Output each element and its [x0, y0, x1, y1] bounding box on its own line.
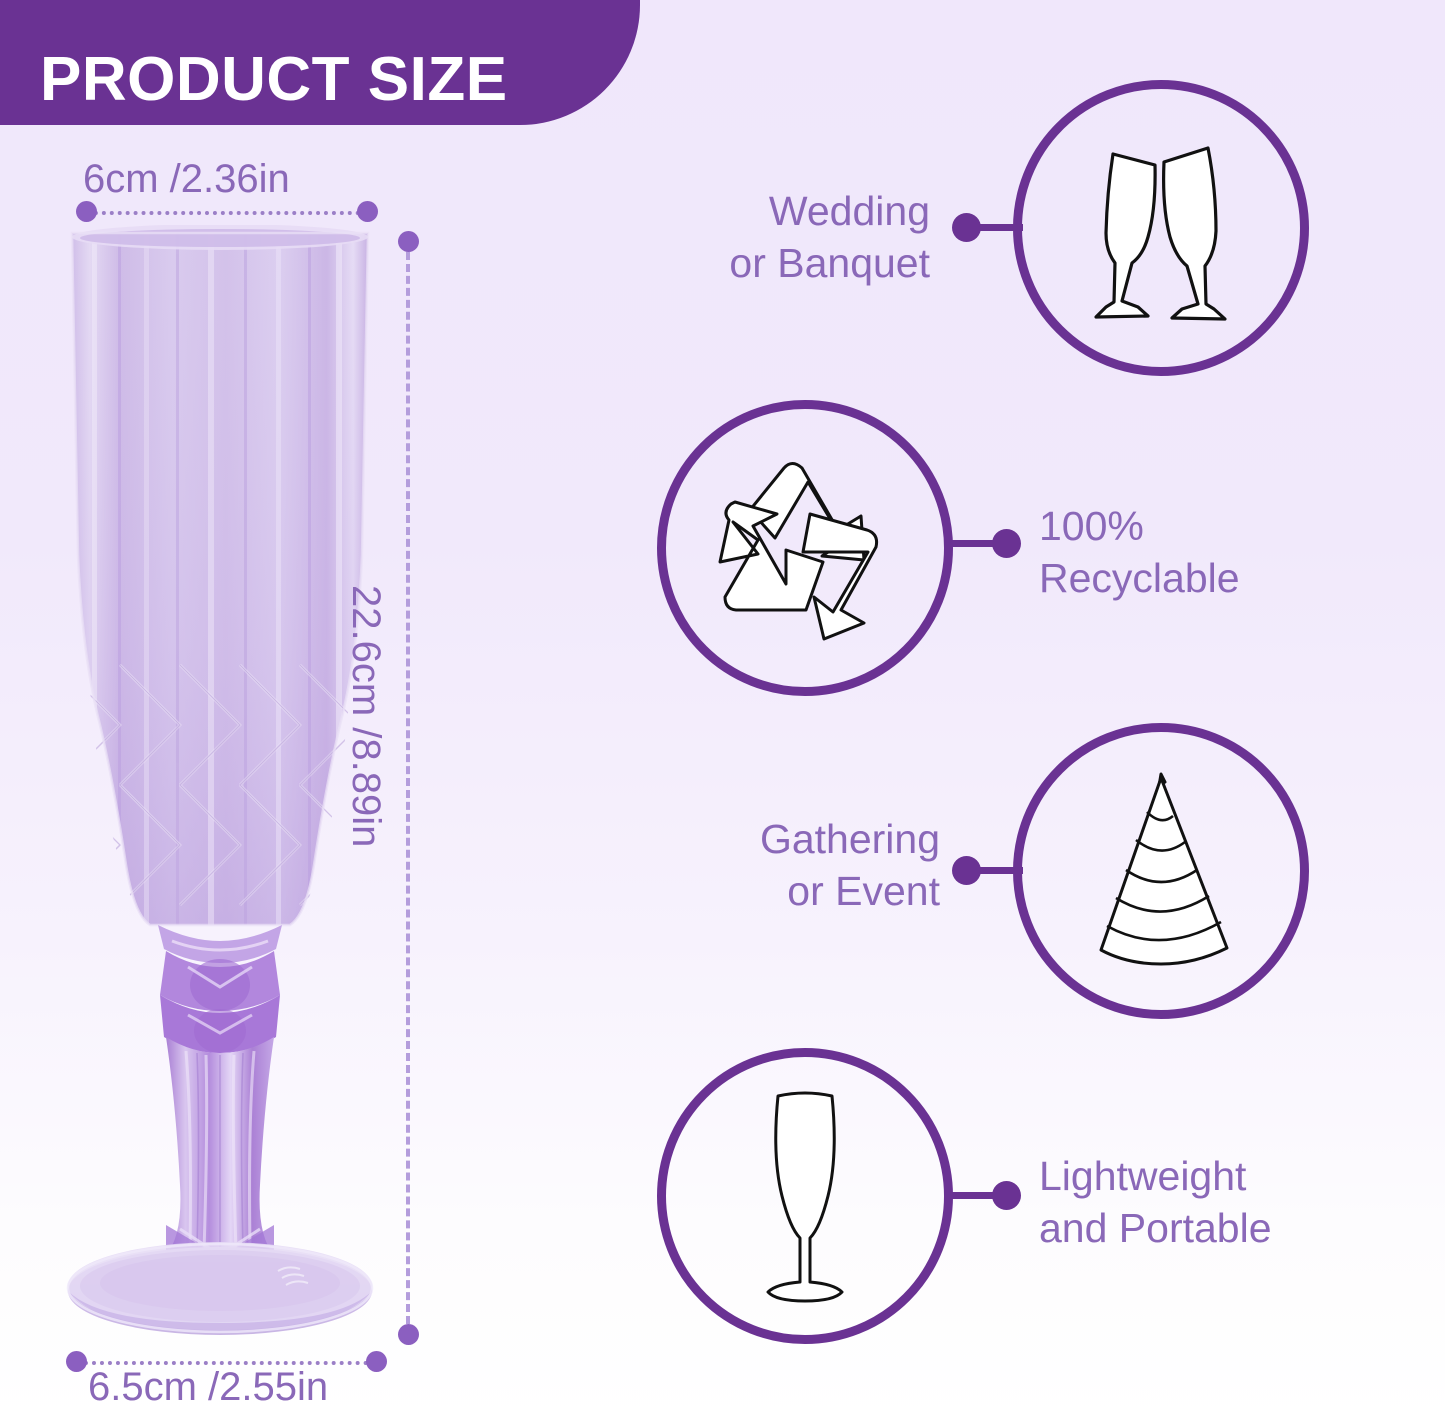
- glass-knop: [158, 925, 282, 1053]
- dimension-label-height: 22.6cm /8.89in: [343, 585, 388, 847]
- feature-label-recyclable: 100% Recyclable: [1039, 500, 1299, 605]
- dimension-endpoint-dot: [398, 231, 419, 252]
- dimension-endpoint-dot: [357, 201, 378, 222]
- dimension-endpoint-dot: [366, 1351, 387, 1372]
- page-title: PRODUCT SIZE: [40, 49, 508, 111]
- dimension-endpoint-dot: [398, 1324, 419, 1345]
- feature-connector-line: [975, 867, 1023, 874]
- feature-connector-dot: [952, 856, 981, 885]
- feature-label-line2: or Banquet: [690, 237, 930, 289]
- recycle-icon: [698, 442, 913, 654]
- product-size-infographic: PRODUCT SIZE: [0, 0, 1445, 1423]
- feature-icon-circle-recyclable: [657, 400, 953, 696]
- glass-stem: [166, 1037, 274, 1257]
- feature-label-line1: Lightweight: [1039, 1150, 1329, 1202]
- dimension-endpoint-dot: [76, 201, 97, 222]
- dimension-line-top-width: [86, 211, 368, 215]
- feature-connector-dot: [952, 213, 981, 242]
- champagne-flute-icon: [730, 1084, 880, 1309]
- header-banner: PRODUCT SIZE: [0, 0, 640, 125]
- feature-label-line1: Wedding: [690, 185, 930, 237]
- glass-foot: [68, 1242, 372, 1335]
- feature-icon-circle-wedding: [1013, 80, 1309, 376]
- feature-label-line2: Recyclable: [1039, 552, 1299, 604]
- feature-label-line1: 100%: [1039, 500, 1299, 552]
- feature-label-lightweight: Lightweight and Portable: [1039, 1150, 1329, 1255]
- party-hat-icon: [1061, 764, 1261, 979]
- dimension-line-base-width: [76, 1361, 376, 1365]
- dimension-label-top-width: 6cm /2.36in: [83, 157, 290, 202]
- dimension-line-height: [406, 252, 410, 1324]
- feature-connector-dot: [992, 1181, 1021, 1210]
- feature-label-line2: and Portable: [1039, 1202, 1329, 1254]
- clinking-champagne-glasses-icon: [1056, 121, 1266, 336]
- feature-icon-circle-lightweight: [657, 1048, 953, 1344]
- feature-label-line1: Gathering: [690, 813, 940, 865]
- feature-label-line2: or Event: [690, 865, 940, 917]
- feature-label-gathering: Gathering or Event: [690, 813, 940, 918]
- feature-connector-line: [975, 224, 1023, 231]
- feature-connector-dot: [992, 529, 1021, 558]
- feature-icon-circle-gathering: [1013, 723, 1309, 1019]
- dimension-endpoint-dot: [66, 1351, 87, 1372]
- dimension-label-base-width: 6.5cm /2.55in: [88, 1365, 328, 1410]
- feature-label-wedding: Wedding or Banquet: [690, 185, 930, 290]
